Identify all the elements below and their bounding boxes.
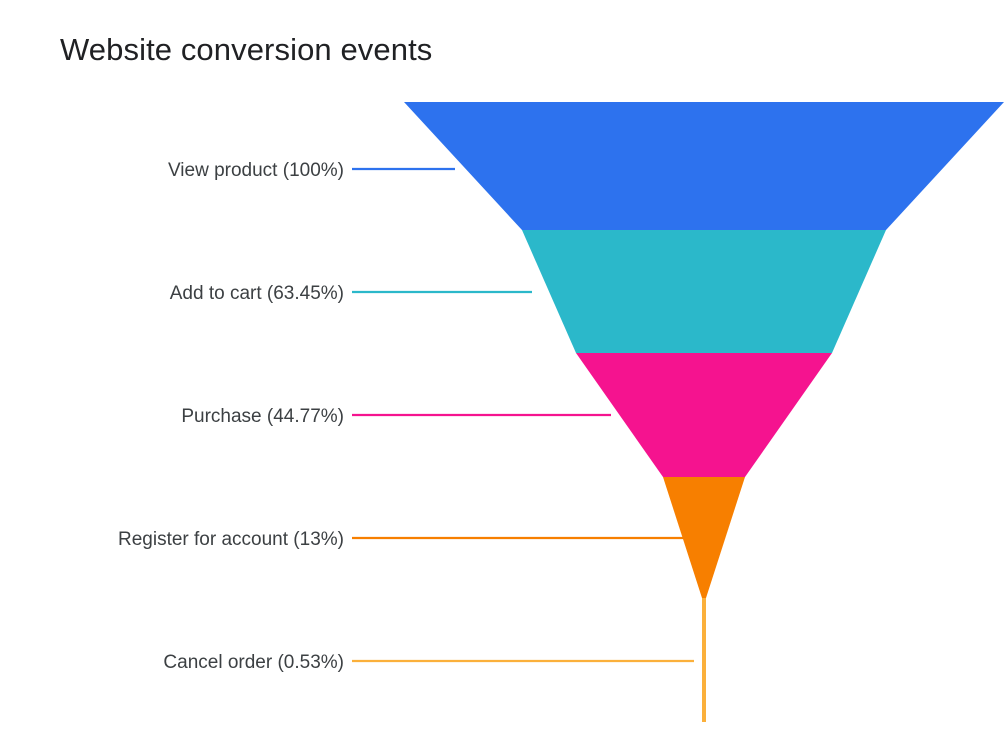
funnel-segment-label: View product (100%) [168,160,344,181]
funnel-segment-label: Purchase (44.77%) [181,406,344,427]
funnel-segment[interactable] [404,102,1004,230]
funnel-labels-group: View product (100%)Add to cart (63.45%)P… [118,160,344,673]
funnel-segment-label: Register for account (13%) [118,529,344,550]
funnel-segment-label: Add to cart (63.45%) [170,283,344,304]
funnel-segment-label: Cancel order (0.53%) [163,652,344,673]
funnel-segment[interactable] [702,598,706,722]
funnel-segment[interactable] [576,353,832,477]
funnel-segments-group [404,102,1004,722]
funnel-chart-svg: View product (100%)Add to cart (63.45%)P… [0,0,1004,752]
funnel-segment[interactable] [522,230,886,353]
funnel-chart-canvas: Website conversion events View product (… [0,0,1004,752]
